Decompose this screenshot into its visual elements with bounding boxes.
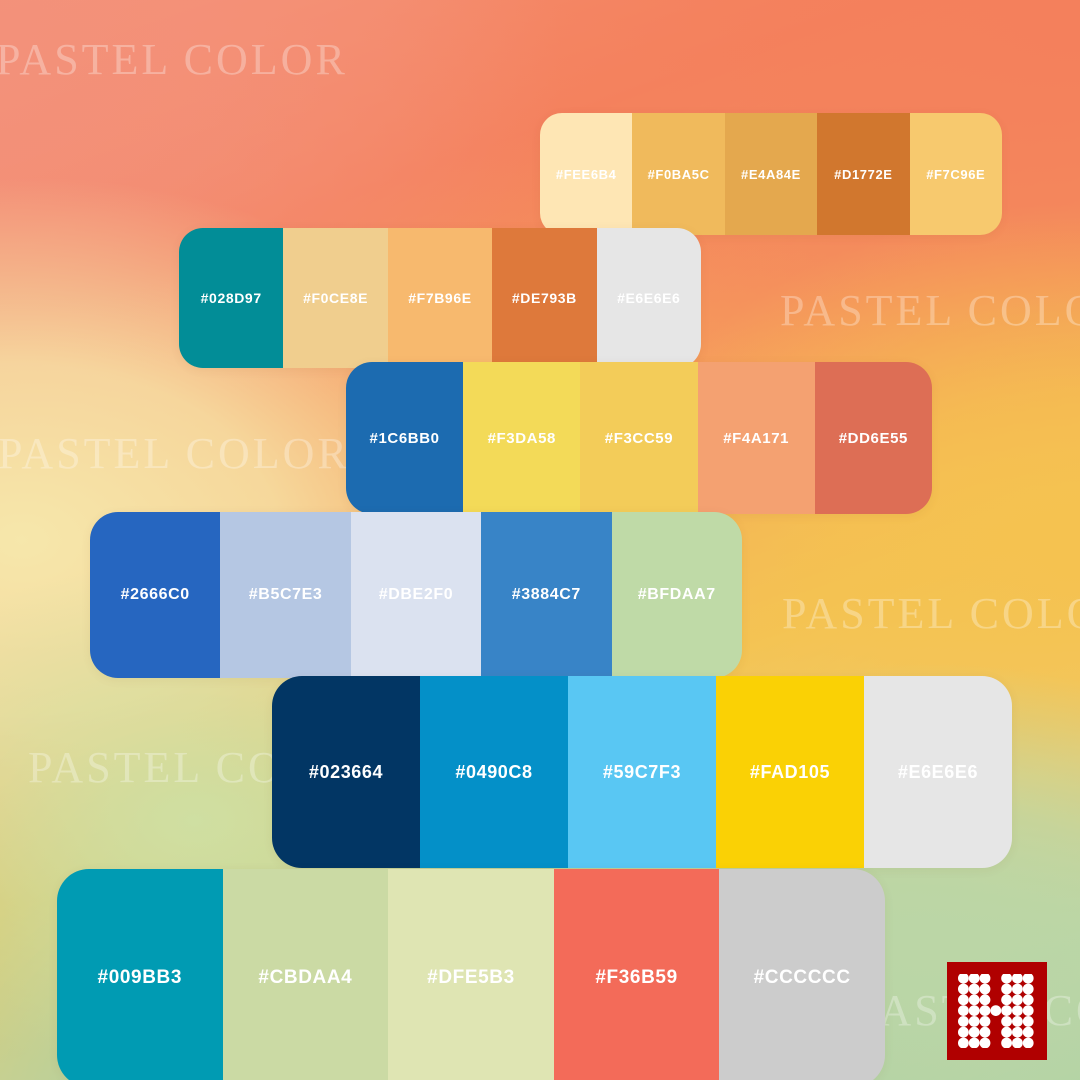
swatch-hex-label: #DD6E55: [839, 430, 908, 447]
color-swatch[interactable]: #3884C7: [481, 512, 611, 678]
color-swatch[interactable]: #FEE6B4: [540, 113, 632, 235]
swatch-hex-label: #F7C96E: [926, 167, 985, 182]
swatch-hex-label: #F0CE8E: [303, 290, 368, 306]
color-swatch[interactable]: #D1772E: [817, 113, 909, 235]
swatch-hex-label: #F36B59: [595, 967, 677, 989]
swatch-hex-label: #FEE6B4: [556, 167, 617, 182]
swatch-hex-label: #CCCCCC: [754, 967, 851, 989]
palette-row: #009BB3 #CBDAA4 #DFE5B3 #F36B59 #CCCCCC: [57, 869, 885, 1080]
swatch-hex-label: #F4A171: [723, 430, 789, 447]
swatch-hex-label: #FAD105: [750, 762, 830, 783]
swatch-hex-label: #028D97: [201, 290, 262, 306]
swatch-hex-label: #1C6BB0: [370, 430, 440, 447]
color-swatch[interactable]: #F3DA58: [463, 362, 580, 514]
color-swatch[interactable]: #0490C8: [420, 676, 568, 868]
color-swatch[interactable]: #E6E6E6: [597, 228, 701, 368]
swatch-hex-label: #009BB3: [98, 967, 182, 989]
palette-row: #FEE6B4 #F0BA5C #E4A84E #D1772E #F7C96E: [540, 113, 1002, 235]
palette-row: #2666C0 #B5C7E3 #DBE2F0 #3884C7 #BFDAA7: [90, 512, 742, 678]
swatch-hex-label: #BFDAA7: [638, 586, 716, 604]
palette-row: #1C6BB0 #F3DA58 #F3CC59 #F4A171 #DD6E55: [346, 362, 932, 514]
color-swatch[interactable]: #59C7F3: [568, 676, 716, 868]
swatch-hex-label: #E6E6E6: [898, 762, 978, 783]
color-swatch[interactable]: #B5C7E3: [220, 512, 350, 678]
color-swatch[interactable]: #F3CC59: [580, 362, 697, 514]
color-swatch[interactable]: #E6E6E6: [864, 676, 1012, 868]
watermark-text: PASTEL COLOR: [782, 588, 1080, 639]
color-swatch[interactable]: #BFDAA7: [612, 512, 742, 678]
color-swatch[interactable]: #1C6BB0: [346, 362, 463, 514]
swatch-hex-label: #F3DA58: [488, 430, 556, 447]
swatch-hex-label: #0490C8: [455, 762, 532, 783]
color-swatch[interactable]: #DD6E55: [815, 362, 932, 514]
swatch-hex-label: #2666C0: [121, 586, 190, 604]
swatch-hex-label: #D1772E: [834, 167, 892, 182]
color-swatch[interactable]: #CCCCCC: [719, 869, 885, 1080]
swatch-hex-label: #E6E6E6: [617, 290, 680, 306]
swatch-hex-label: #023664: [309, 762, 383, 783]
palette-canvas: PASTEL COLOR PASTEL COLOR PASTEL COLOR P…: [0, 0, 1080, 1080]
palette-row: #023664 #0490C8 #59C7F3 #FAD105 #E6E6E6: [272, 676, 1012, 868]
color-swatch[interactable]: #023664: [272, 676, 420, 868]
swatch-hex-label: #F3CC59: [605, 430, 673, 447]
swatch-hex-label: #F0BA5C: [648, 167, 710, 182]
swatch-hex-label: #F7B96E: [408, 290, 471, 306]
swatch-hex-label: #59C7F3: [603, 762, 681, 783]
swatch-hex-label: #DFE5B3: [427, 967, 515, 989]
color-swatch[interactable]: #FAD105: [716, 676, 864, 868]
color-swatch[interactable]: #F0CE8E: [283, 228, 387, 368]
color-swatch[interactable]: #DBE2F0: [351, 512, 481, 678]
palette-row: #028D97 #F0CE8E #F7B96E #DE793B #E6E6E6: [179, 228, 701, 368]
color-swatch[interactable]: #E4A84E: [725, 113, 817, 235]
watermark-text: PASTEL COLOR: [0, 428, 350, 479]
h-monogram-icon: [958, 974, 1036, 1048]
swatch-hex-label: #CBDAA4: [258, 967, 352, 989]
swatch-hex-label: #DE793B: [512, 290, 577, 306]
color-swatch[interactable]: #F4A171: [698, 362, 815, 514]
watermark-text: PASTEL COLOR: [780, 285, 1080, 336]
color-swatch[interactable]: #F36B59: [554, 869, 720, 1080]
color-swatch[interactable]: #F7B96E: [388, 228, 492, 368]
color-swatch[interactable]: #2666C0: [90, 512, 220, 678]
color-swatch[interactable]: #DE793B: [492, 228, 596, 368]
color-swatch[interactable]: #009BB3: [57, 869, 223, 1080]
color-swatch[interactable]: #F7C96E: [910, 113, 1002, 235]
swatch-hex-label: #3884C7: [512, 586, 581, 604]
color-swatch[interactable]: #DFE5B3: [388, 869, 554, 1080]
watermark-text: PASTEL COLOR: [0, 34, 348, 85]
swatch-hex-label: #B5C7E3: [249, 586, 323, 604]
swatch-hex-label: #E4A84E: [741, 167, 801, 182]
swatch-hex-label: #DBE2F0: [379, 586, 453, 604]
color-swatch[interactable]: #F0BA5C: [632, 113, 724, 235]
brand-logo[interactable]: [947, 962, 1047, 1060]
color-swatch[interactable]: #028D97: [179, 228, 283, 368]
color-swatch[interactable]: #CBDAA4: [223, 869, 389, 1080]
